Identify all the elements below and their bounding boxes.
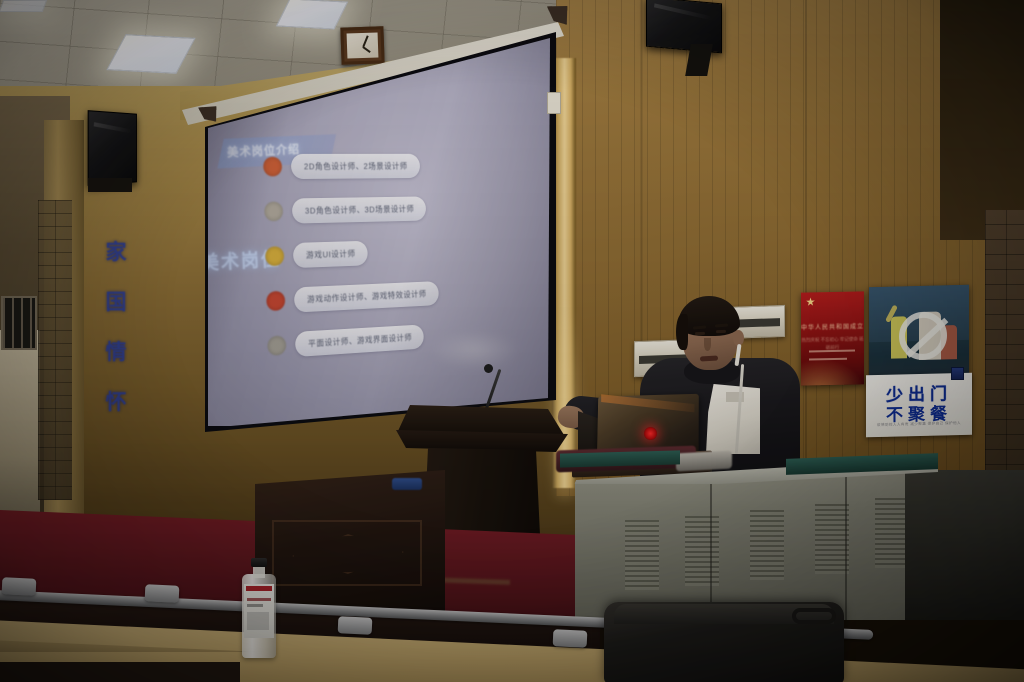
black-carry-bag[interactable] xyxy=(604,602,844,682)
star-emblem-icon xyxy=(806,297,815,306)
slide-row: 2D角色设计师、2场景设计师 xyxy=(263,154,420,180)
slide-row: 平面设计师、游戏界面设计师 xyxy=(267,324,424,358)
console-vent xyxy=(875,498,909,568)
rail-clip xyxy=(553,629,588,648)
red-poster-title: 中华人民共和国成立 xyxy=(801,321,864,331)
bullet-badge-icon xyxy=(267,335,286,356)
desk-items xyxy=(676,451,732,472)
water-bottle[interactable] xyxy=(242,558,276,658)
bag-handle[interactable] xyxy=(792,608,836,624)
speaker-bracket xyxy=(88,178,132,192)
slide-row: 游戏UI设计师 xyxy=(265,241,368,269)
presenter-eye xyxy=(695,332,705,336)
console-vent xyxy=(750,510,784,580)
slide-row-text: 游戏UI设计师 xyxy=(306,248,356,261)
laptop-logo-icon xyxy=(644,427,657,440)
console-seam xyxy=(845,462,847,620)
brick-column xyxy=(985,210,1024,510)
bullet-badge-icon xyxy=(265,246,284,266)
slide-row-pill: 2D角色设计师、2场景设计师 xyxy=(291,154,420,179)
console-seam xyxy=(710,470,712,620)
slide-row-pill: 平面设计师、游戏界面设计师 xyxy=(295,324,424,357)
label-text-block xyxy=(247,612,269,630)
wall-speaker-icon xyxy=(88,110,137,186)
slide-row-text: 平面设计师、游戏界面设计师 xyxy=(308,332,412,350)
blue-object-on-desk[interactable] xyxy=(392,478,422,490)
label-color-bar xyxy=(246,586,272,591)
poster-corner-badge xyxy=(951,367,964,380)
bottle-cap[interactable] xyxy=(251,558,267,567)
side-door[interactable] xyxy=(0,330,40,540)
wall-clock-icon xyxy=(340,26,384,64)
console-vent xyxy=(815,504,849,574)
right-wall-shadow xyxy=(940,0,1024,240)
presenter-mouth xyxy=(700,356,718,362)
red-propaganda-poster: 中华人民共和国成立 热烈庆祝 不忘初心 牢记使命 砥砺前行 xyxy=(801,291,864,385)
lecture-hall-scene: 家 国 情 怀 美术岗位介绍 美术岗位 2D角色设计师、2场景设计师 xyxy=(0,0,1024,682)
calligraphy-char: 情 xyxy=(106,336,127,366)
slide-row-text: 游戏动作设计师、游戏特效设计师 xyxy=(307,288,427,305)
covid-text-sign: 少出门 不聚餐 疫情防控人人有责 减少聚集 保护自己 保护他人 xyxy=(866,373,972,438)
calligraphy-char: 怀 xyxy=(106,386,127,416)
rail-clip xyxy=(338,616,373,635)
bullet-badge-icon xyxy=(263,157,282,177)
presenter-eye xyxy=(716,330,726,334)
slide-row-pill: 游戏UI设计师 xyxy=(293,241,368,268)
presenter-hair-side xyxy=(676,314,688,350)
console-vent xyxy=(685,516,719,586)
left-brick-texture xyxy=(38,200,72,500)
calligraphy-char: 家 xyxy=(106,236,127,266)
console-vent xyxy=(625,520,659,590)
clock-face xyxy=(347,32,379,58)
window-grate-icon xyxy=(1,296,37,350)
slide-row-pill: 游戏动作设计师、游戏特效设计师 xyxy=(294,281,439,312)
control-console-desk xyxy=(575,460,935,620)
slide-row-pill: 3D角色设计师、3D场景设计师 xyxy=(292,196,426,223)
ceiling-light-icon xyxy=(0,0,47,12)
presenter-nose xyxy=(704,338,711,351)
slide-row: 游戏动作设计师、游戏特效设计师 xyxy=(266,281,438,314)
rail-clip xyxy=(145,584,180,603)
slide-row: 3D角色设计师、3D场景设计师 xyxy=(264,196,426,224)
console-dark-section xyxy=(905,470,1024,620)
wall-switch-plate[interactable] xyxy=(547,92,561,114)
slide-row-text: 3D角色设计师、3D场景设计师 xyxy=(305,203,415,216)
bottle-label xyxy=(244,584,274,638)
slide-row-text: 2D角色设计师、2场景设计师 xyxy=(304,160,408,172)
projector-hotspot xyxy=(430,330,520,370)
calligraphy-char: 国 xyxy=(106,286,127,316)
rail-clip xyxy=(2,577,37,596)
desk-underside xyxy=(0,662,240,682)
bullet-badge-icon xyxy=(264,201,283,221)
label-text-line xyxy=(247,598,271,601)
wall-calligraphy: 家 国 情 怀 xyxy=(96,236,136,416)
label-text-line xyxy=(247,604,263,607)
microphone-icon xyxy=(484,364,493,373)
bullet-badge-icon xyxy=(266,291,285,311)
